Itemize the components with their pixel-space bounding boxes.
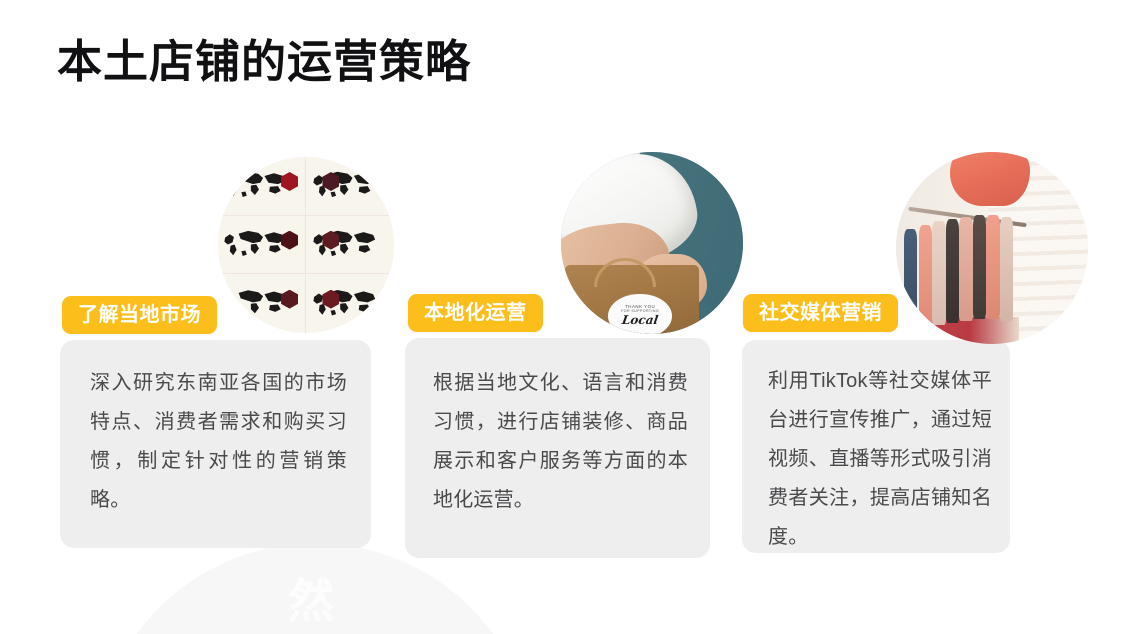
card-body-text: 利用TikTok等社交媒体平台进行宣传推广，通过短视频、直播等形式吸引消费者关注… [768,362,992,557]
badge-label: 本地化运营 [424,303,527,323]
card-localized-operations: 根据当地文化、语言和消费习惯，进行店铺装修、商品展示和客户服务等方面的本地化运营… [405,338,710,558]
hanging-clothes [896,152,1088,344]
world-map-icon [310,226,379,263]
world-map-icon [221,167,289,204]
card-understand-local-market: 深入研究东南亚各国的市场特点、消费者需求和购买习惯，制定针对性的营销策略。 [60,340,371,548]
card-social-media-marketing: 利用TikTok等社交媒体平台进行宣传推广，通过短视频、直播等形式吸引消费者关注… [742,340,1010,553]
world-map-grid-photo [218,157,394,333]
badge-label: 了解当地市场 [78,305,201,325]
map-cell [218,274,306,333]
sticker-line-3: Local [621,314,659,327]
clothing-rack-photo [896,152,1088,344]
badge-understand-local-market[interactable]: 了解当地市场 [62,296,217,334]
kraft-shopping-bag-photo: THANK YOU FOR SUPPORTING Local [561,152,743,334]
garment [959,217,972,321]
world-map-icon [221,226,289,263]
slide-canvas: 然 本土店铺的运营策略 [0,0,1137,634]
world-map-icon [310,285,379,323]
watermark-text: 然 [288,578,334,624]
garment [946,219,959,323]
map-cell [306,216,394,275]
garment [973,215,986,319]
map-cell [218,216,306,275]
garment [986,215,999,319]
garment [919,225,932,329]
world-map-icon [310,167,379,204]
garment [932,221,945,325]
garment [904,229,917,321]
world-map-icon [221,285,289,323]
badge-social-media-marketing[interactable]: 社交媒体营销 [743,294,898,332]
badge-localized-operations[interactable]: 本地化运营 [408,294,543,332]
card-body-text: 根据当地文化、语言和消费习惯，进行店铺装修、商品展示和客户服务等方面的本地化运营… [433,364,688,520]
map-cell [306,157,394,216]
garment [1000,217,1013,321]
map-cell [306,274,394,333]
badge-label: 社交媒体营销 [759,303,882,323]
page-title: 本土店铺的运营策略 [57,33,471,91]
thank-you-sticker: THANK YOU FOR SUPPORTING Local [608,294,672,334]
world-map-grid [218,157,394,333]
map-cell [218,157,306,216]
card-body-text: 深入研究东南亚各国的市场特点、消费者需求和购买习惯，制定针对性的营销策略。 [90,364,347,520]
